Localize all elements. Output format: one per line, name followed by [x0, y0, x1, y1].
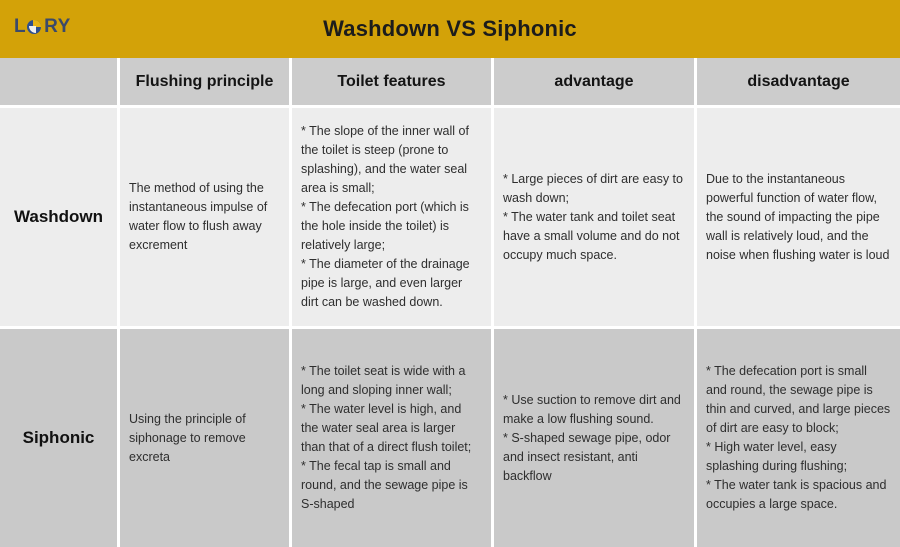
table-header-corner — [0, 58, 120, 108]
cell-siphonic-principle: Using the principle of siphonage to remo… — [120, 329, 292, 547]
comparison-table: Flushing principle Toilet features advan… — [0, 58, 900, 547]
title-bar: L RY Washdown VS Siphonic — [0, 0, 900, 58]
row-label-siphonic: Siphonic — [0, 329, 120, 547]
cell-text: * The toilet seat is wide with a long an… — [292, 362, 491, 514]
cell-washdown-disadvantage: Due to the instantaneous powerful functi… — [697, 108, 900, 329]
cell-siphonic-advantage: * Use suction to remove dirt and make a … — [494, 329, 697, 547]
cell-text: * The slope of the inner wall of the toi… — [292, 122, 491, 312]
table-row: Washdown The method of using the instant… — [0, 108, 900, 329]
cell-siphonic-disadvantage: * The defecation port is small and round… — [697, 329, 900, 547]
table-header-disadvantage: disadvantage — [697, 58, 900, 108]
logo-letters-ry: RY — [44, 17, 71, 36]
cell-washdown-advantage: * Large pieces of dirt are easy to wash … — [494, 108, 697, 329]
cell-siphonic-features: * The toilet seat is wide with a long an… — [292, 329, 494, 547]
cell-text: * Use suction to remove dirt and make a … — [494, 391, 694, 486]
row-label-text: Washdown — [0, 207, 117, 227]
cell-washdown-features: * The slope of the inner wall of the toi… — [292, 108, 494, 329]
table-header-advantage: advantage — [494, 58, 697, 108]
table-header-row: Flushing principle Toilet features advan… — [0, 58, 900, 108]
row-label-washdown: Washdown — [0, 108, 120, 329]
table-row: Siphonic Using the principle of siphonag… — [0, 329, 900, 547]
table-header-toilet-features: Toilet features — [292, 58, 494, 108]
cell-text: The method of using the instantaneous im… — [120, 179, 289, 255]
cell-text: Using the principle of siphonage to remo… — [120, 410, 289, 467]
cell-text: * Large pieces of dirt are easy to wash … — [494, 170, 694, 265]
row-label-text: Siphonic — [0, 428, 117, 448]
cell-washdown-principle: The method of using the instantaneous im… — [120, 108, 292, 329]
table-header-flushing-principle: Flushing principle — [120, 58, 292, 108]
comparison-infographic: L RY Washdown VS Siphonic LORY LORY — [0, 0, 900, 547]
page-title: Washdown VS Siphonic — [0, 16, 900, 42]
logo-o-icon — [27, 19, 42, 34]
cell-text: * The defecation port is small and round… — [697, 362, 900, 514]
cell-text: Due to the instantaneous powerful functi… — [697, 170, 900, 265]
lory-logo: L RY — [14, 17, 71, 36]
logo-letter-l: L — [14, 17, 26, 36]
